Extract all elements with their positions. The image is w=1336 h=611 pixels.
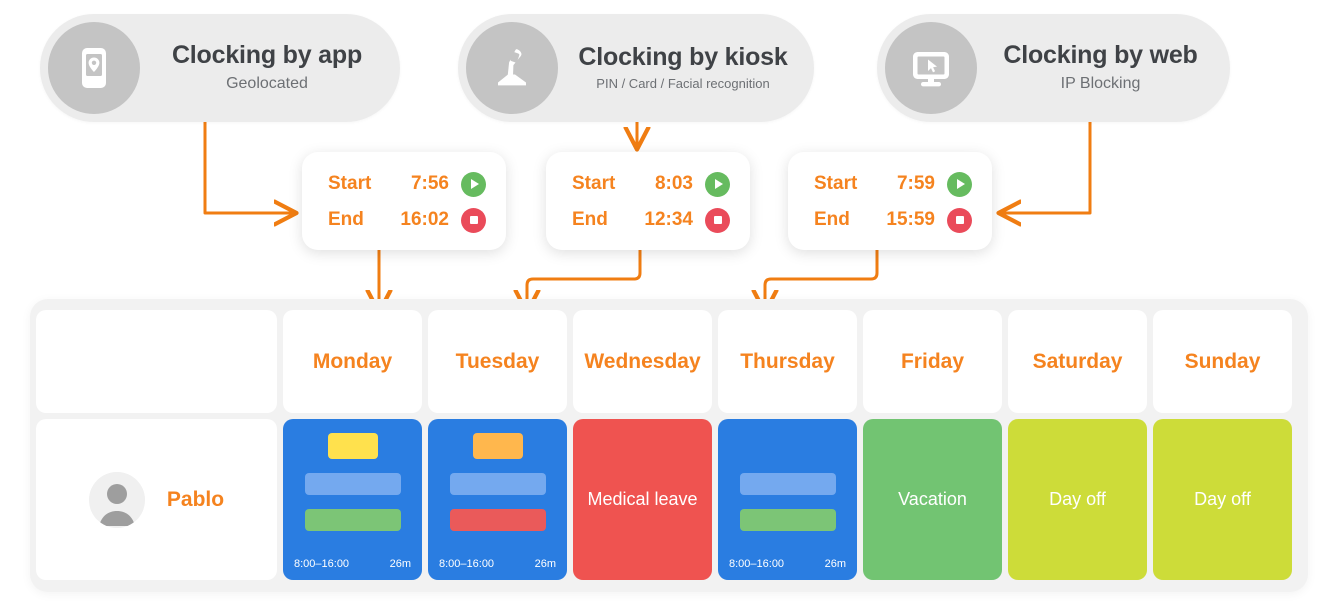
shift-duration: 26m <box>535 558 556 570</box>
shift-bars <box>718 433 857 531</box>
shift-cell-wednesday[interactable]: Medical leave <box>573 419 712 580</box>
method-text-app: Clocking by app Geolocated <box>140 40 400 96</box>
shift-cell-friday[interactable]: Vacation <box>863 419 1002 580</box>
shift-label: Vacation <box>898 489 967 510</box>
shift-bars <box>283 433 422 531</box>
punch-start-label: Start <box>328 173 394 195</box>
day-header-saturday[interactable]: Saturday <box>1008 310 1147 413</box>
shift-hours: 8:00–16:00 <box>729 558 784 570</box>
method-subtitle: Geolocated <box>144 72 390 96</box>
method-subtitle: PIN / Card / Facial recognition <box>562 74 804 94</box>
shift-duration: 26m <box>825 558 846 570</box>
punch-end-label: End <box>328 209 394 231</box>
shift-cell-sunday[interactable]: Day off <box>1153 419 1292 580</box>
kiosk-terminal-icon <box>466 22 558 114</box>
punch-row-end: End 12:34 <box>572 202 730 238</box>
method-card-app[interactable]: Clocking by app Geolocated <box>40 14 400 122</box>
shift-footer: 8:00–16:00 26m <box>439 558 556 570</box>
person-name: Pablo <box>167 488 224 512</box>
calendar-corner-cell <box>36 310 277 413</box>
shift-hours: 8:00–16:00 <box>439 558 494 570</box>
shift-bar-segment-1 <box>305 473 401 495</box>
punch-end-time: 12:34 <box>638 209 705 231</box>
shift-hours: 8:00–16:00 <box>294 558 349 570</box>
shift-bars <box>428 433 567 531</box>
day-header-friday[interactable]: Friday <box>863 310 1002 413</box>
mobile-location-icon <box>48 22 140 114</box>
punch-end-time: 16:02 <box>394 209 461 231</box>
shift-bar-break <box>473 433 523 459</box>
day-header-monday[interactable]: Monday <box>283 310 422 413</box>
method-text-kiosk: Clocking by kiosk PIN / Card / Facial re… <box>558 42 814 94</box>
punch-start-time: 7:59 <box>880 173 947 195</box>
punch-row-end: End 16:02 <box>328 202 486 238</box>
person-cell-pablo[interactable]: Pablo <box>36 419 277 580</box>
method-title: Clocking by app <box>144 40 390 70</box>
end-stop-button[interactable] <box>947 208 972 233</box>
day-header-tuesday[interactable]: Tuesday <box>428 310 567 413</box>
method-card-web[interactable]: Clocking by web IP Blocking <box>877 14 1230 122</box>
punch-start-label: Start <box>814 173 880 195</box>
punch-card-app[interactable]: Start 7:56 End 16:02 <box>302 152 506 250</box>
start-play-button[interactable] <box>705 172 730 197</box>
shift-label: Day off <box>1194 489 1251 510</box>
shift-bar-segment-2 <box>740 509 836 531</box>
desktop-cursor-icon <box>885 22 977 114</box>
method-title: Clocking by web <box>981 40 1220 70</box>
day-header-sunday[interactable]: Sunday <box>1153 310 1292 413</box>
shift-cell-monday[interactable]: 8:00–16:00 26m <box>283 419 422 580</box>
punch-row-end: End 15:59 <box>814 202 972 238</box>
method-title: Clocking by kiosk <box>562 42 804 72</box>
calendar-grid: Monday Tuesday Wednesday Thursday Friday… <box>36 310 1304 580</box>
punch-start-label: Start <box>572 173 638 195</box>
punch-start-time: 7:56 <box>394 173 461 195</box>
shift-bar-segment-1 <box>450 473 546 495</box>
shift-footer: 8:00–16:00 26m <box>294 558 411 570</box>
punch-card-web[interactable]: Start 7:59 End 15:59 <box>788 152 992 250</box>
day-header-thursday[interactable]: Thursday <box>718 310 857 413</box>
user-avatar <box>89 472 145 528</box>
shift-bar-break <box>328 433 378 459</box>
arrow-web-to-punch3 <box>1000 118 1090 213</box>
method-text-web: Clocking by web IP Blocking <box>977 40 1230 96</box>
punch-row-start: Start 7:59 <box>814 166 972 202</box>
start-play-button[interactable] <box>461 172 486 197</box>
shift-bar-placeholder <box>763 433 813 459</box>
shift-label: Medical leave <box>587 489 697 510</box>
punch-start-time: 8:03 <box>638 173 705 195</box>
shift-label: Day off <box>1049 489 1106 510</box>
punch-end-time: 15:59 <box>880 209 947 231</box>
punch-row-start: Start 8:03 <box>572 166 730 202</box>
start-play-button[interactable] <box>947 172 972 197</box>
day-header-wednesday[interactable]: Wednesday <box>573 310 712 413</box>
shift-cell-saturday[interactable]: Day off <box>1008 419 1147 580</box>
end-stop-button[interactable] <box>705 208 730 233</box>
punch-end-label: End <box>814 209 880 231</box>
shift-duration: 26m <box>390 558 411 570</box>
punch-end-label: End <box>572 209 638 231</box>
method-card-kiosk[interactable]: Clocking by kiosk PIN / Card / Facial re… <box>458 14 814 122</box>
shift-cell-thursday[interactable]: 8:00–16:00 26m <box>718 419 857 580</box>
shift-bar-segment-1 <box>740 473 836 495</box>
shift-footer: 8:00–16:00 26m <box>729 558 846 570</box>
punch-row-start: Start 7:56 <box>328 166 486 202</box>
punch-card-kiosk[interactable]: Start 8:03 End 12:34 <box>546 152 750 250</box>
end-stop-button[interactable] <box>461 208 486 233</box>
infographic-stage: Clocking by app Geolocated Clocking by k… <box>0 0 1336 611</box>
arrow-app-to-punch1 <box>205 118 295 213</box>
shift-bar-segment-2 <box>305 509 401 531</box>
method-subtitle: IP Blocking <box>981 72 1220 96</box>
shift-cell-tuesday[interactable]: 8:00–16:00 26m <box>428 419 567 580</box>
shift-bar-segment-2 <box>450 509 546 531</box>
